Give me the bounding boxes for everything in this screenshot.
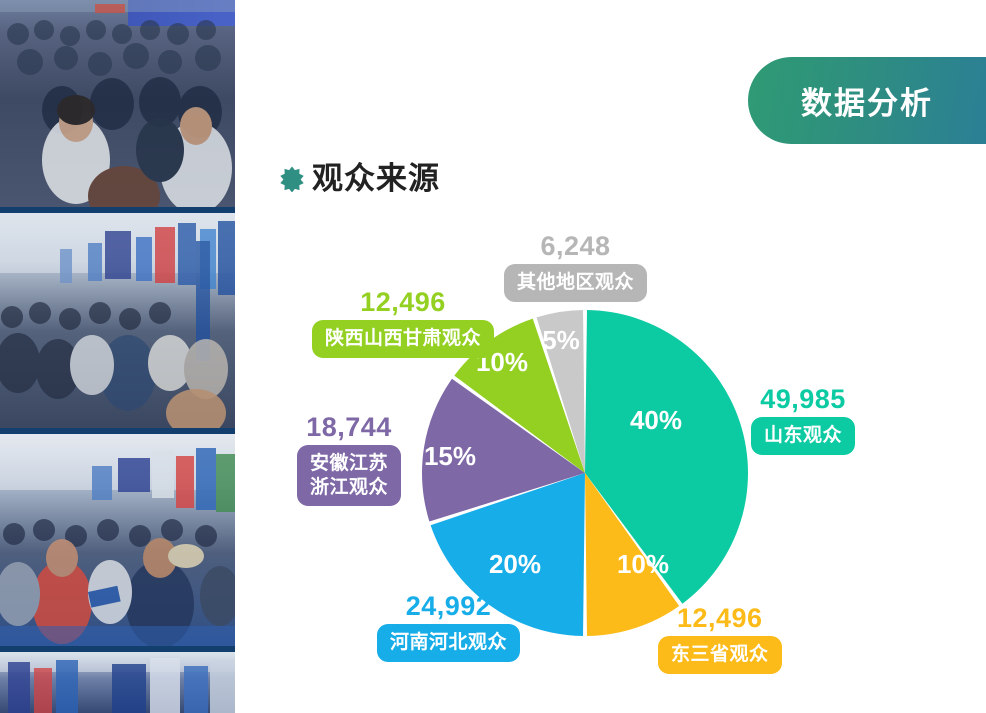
photo-exhibition-visitors-booths [0,434,235,646]
section-title: 观众来源 [279,163,440,194]
callout-value: 24,992 [406,592,492,620]
callout-value: 12,496 [677,604,763,632]
callout-value: 18,744 [306,413,392,441]
star-burst-icon [279,166,305,192]
callout-henan-hebei: 24,992 河南河北观众 [377,592,520,662]
callout-shandong: 49,985 山东观众 [751,385,855,455]
callout-value: 12,496 [360,288,446,316]
slide-root: 数据分析 观众来源 40% 10% 20% 15% 10% 5% 6,248 其… [0,0,986,713]
pie-label-other: 5% [542,325,580,355]
pie-label-dongsan: 10% [617,549,669,579]
photo-crowd-shapes [0,434,235,646]
callout-badge: 山东观众 [751,417,855,454]
photo-crowd-shapes [0,652,235,713]
pie-label-shandong: 40% [630,405,682,435]
callout-value: 49,985 [760,385,846,413]
visitors-silhouettes-icon [0,434,235,646]
pie-label-henanhebei: 20% [489,549,541,579]
callout-badge: 安徽江苏 浙江观众 [297,445,401,505]
photo-crowd-shapes [0,213,235,428]
callout-northeast-three-provinces: 12,496 东三省观众 [658,604,782,674]
banner-title: 数据分析 [801,78,933,123]
section-title-text: 观众来源 [312,163,440,194]
pie-label-anhui: 15% [424,441,476,471]
callout-shaanxi-shanxi-gansu: 12,496 陕西山西甘肃观众 [312,288,494,358]
section-banner: 数据分析 [748,57,986,144]
callout-anhui-jiangsu-zhejiang: 18,744 安徽江苏 浙江观众 [297,413,401,506]
crowd-silhouettes-icon [0,0,235,207]
photo-strip [0,0,235,713]
booth-row-icon [0,652,235,713]
callout-badge: 其他地区观众 [504,264,647,301]
photo-exhibition-booth-row [0,652,235,713]
callout-value: 6,248 [540,232,610,260]
photo-exhibition-crowd-entrance [0,0,235,207]
pie-slices [422,310,748,636]
callout-badge: 东三省观众 [658,636,782,673]
callout-badge: 河南河北观众 [377,624,520,661]
audience-source-pie-chart: 40% 10% 20% 15% 10% 5% [422,310,748,636]
photo-exhibition-hall-aisle [0,213,235,428]
hall-silhouettes-icon [0,213,235,428]
callout-badge: 陕西山西甘肃观众 [312,320,494,357]
photo-crowd-shapes [0,0,235,207]
callout-other-regions: 6,248 其他地区观众 [504,232,647,302]
pie-svg: 40% 10% 20% 15% 10% 5% [422,310,748,636]
